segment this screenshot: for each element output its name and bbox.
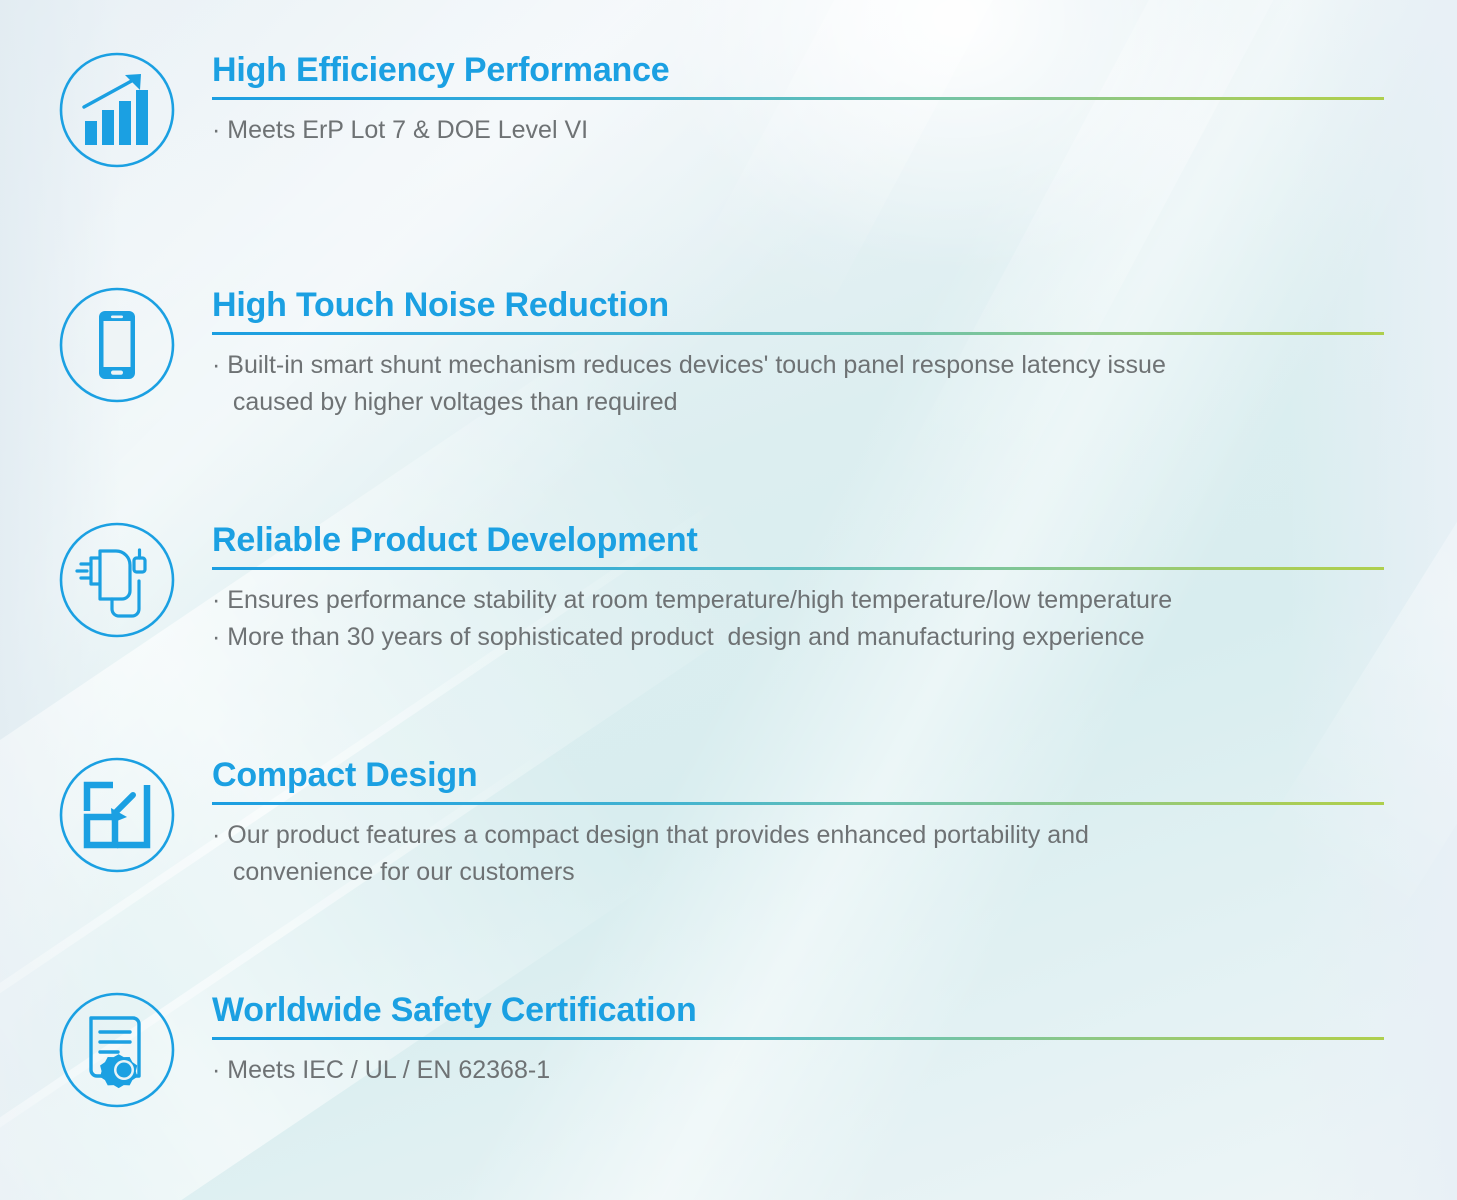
feature-bullet: · Meets IEC / UL / EN 62368-1: [212, 1052, 1384, 1089]
feature-content: High Efficiency Performance · Meets ErP …: [212, 50, 1384, 149]
feature-content: High Touch Noise Reduction · Built-in sm…: [212, 285, 1384, 421]
feature-divider: [212, 1037, 1384, 1040]
compact-resize-icon: [57, 755, 177, 875]
feature-divider: [212, 97, 1384, 100]
feature-bullet: · Ensures performance stability at room …: [212, 582, 1384, 619]
feature-bullets: · Meets ErP Lot 7 & DOE Level VI: [212, 112, 1384, 149]
feature-bullets: · Our product features a compact design …: [212, 817, 1384, 891]
feature-bullets: · Built-in smart shunt mechanism reduces…: [212, 347, 1384, 421]
background-streak: [700, 0, 1180, 318]
feature-highlights-page: High Efficiency Performance · Meets ErP …: [0, 0, 1457, 1200]
feature-title: Reliable Product Development: [212, 520, 1384, 560]
smartphone-icon: [57, 285, 177, 405]
certificate-award-icon: [57, 990, 177, 1110]
feature-divider: [212, 332, 1384, 335]
feature-title: Compact Design: [212, 755, 1384, 795]
feature-bullet: · Built-in smart shunt mechanism reduces…: [212, 347, 1384, 421]
feature-divider: [212, 567, 1384, 570]
feature-bullet: · Meets ErP Lot 7 & DOE Level VI: [212, 112, 1384, 149]
power-adapter-icon: [57, 520, 177, 640]
bar-chart-growth-icon: [57, 50, 177, 170]
feature-title: High Touch Noise Reduction: [212, 285, 1384, 325]
feature-divider: [212, 802, 1384, 805]
feature-content: Worldwide Safety Certification · Meets I…: [212, 990, 1384, 1089]
feature-title: High Efficiency Performance: [212, 50, 1384, 90]
feature-bullets: · Ensures performance stability at room …: [212, 582, 1384, 656]
feature-content: Reliable Product Development · Ensures p…: [212, 520, 1384, 656]
feature-bullet: · More than 30 years of sophisticated pr…: [212, 619, 1384, 656]
feature-bullet: · Our product features a compact design …: [212, 817, 1384, 891]
feature-bullets: · Meets IEC / UL / EN 62368-1: [212, 1052, 1384, 1089]
feature-title: Worldwide Safety Certification: [212, 990, 1384, 1030]
feature-content: Compact Design · Our product features a …: [212, 755, 1384, 891]
